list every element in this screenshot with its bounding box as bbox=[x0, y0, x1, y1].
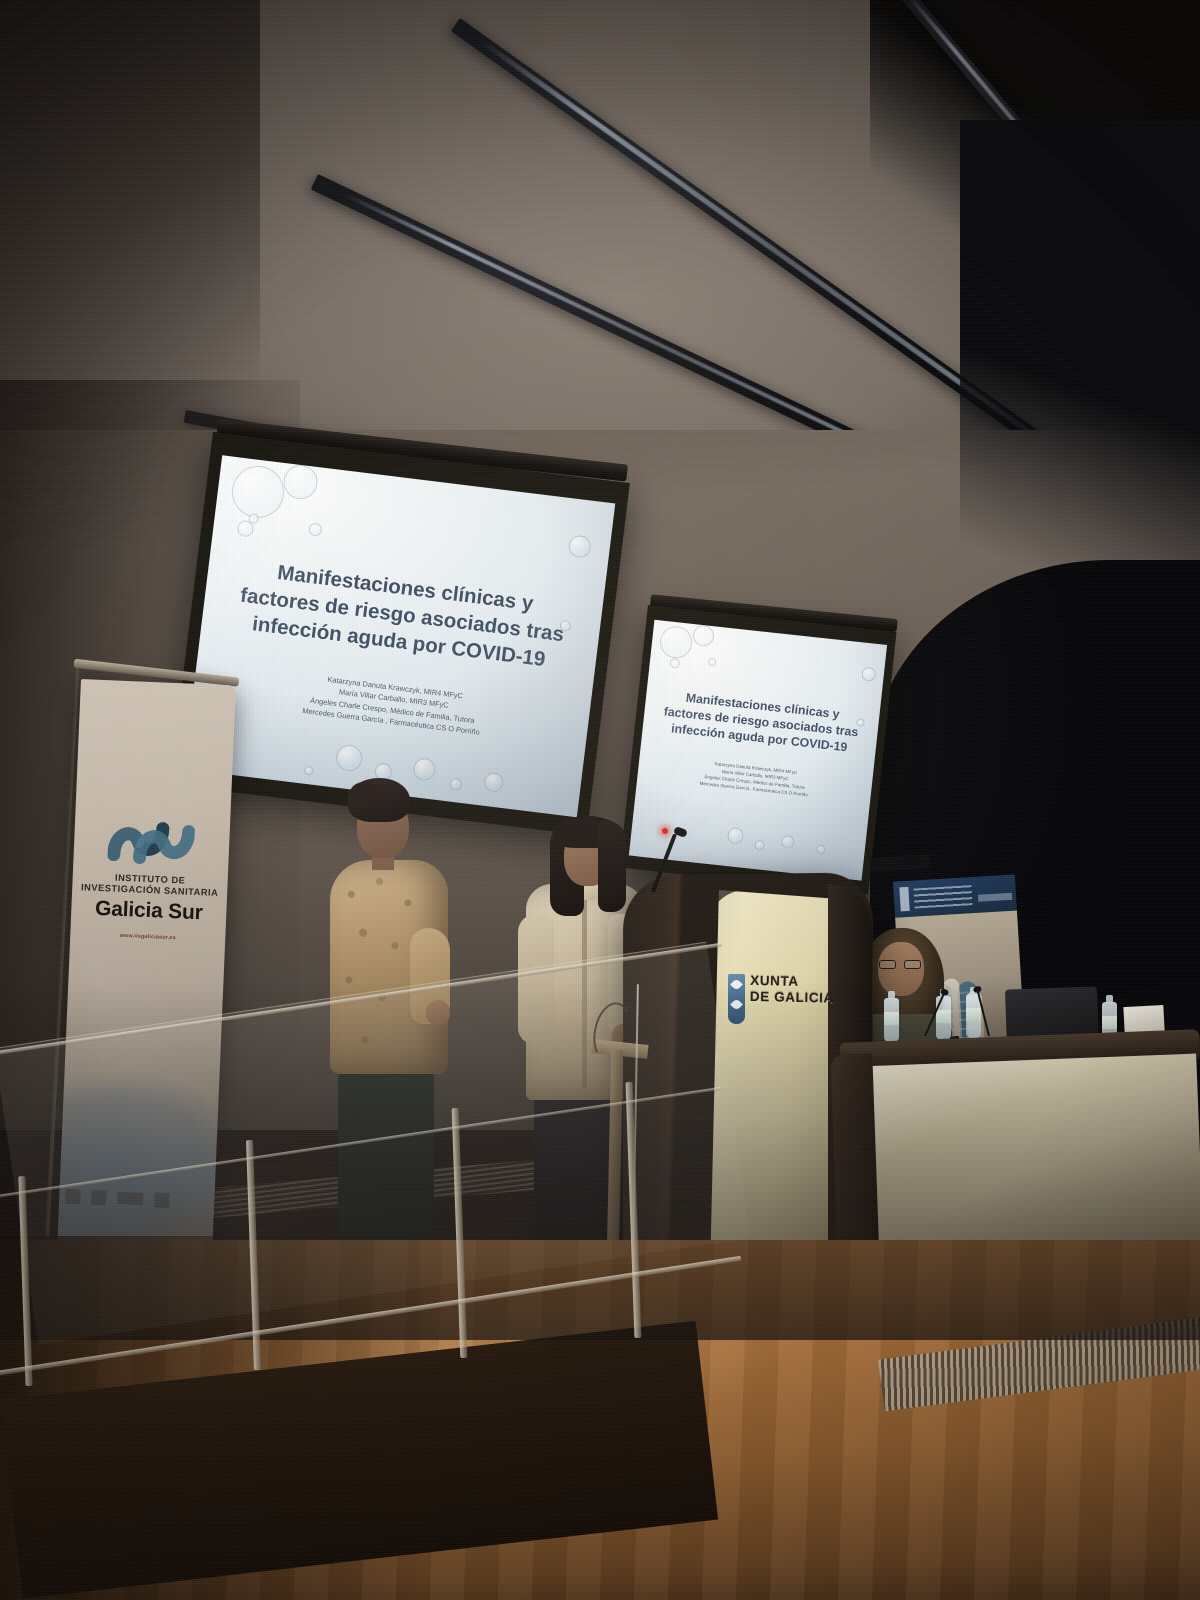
slide-bubble-icon bbox=[568, 534, 593, 559]
banner-main-title: Galicia Sur bbox=[71, 896, 227, 926]
banner-header-text-block bbox=[913, 885, 972, 908]
projection-screen-secondary: Manifestaciones clínicas y factores de r… bbox=[619, 605, 896, 898]
slide-bubble-icon bbox=[816, 845, 826, 855]
slide-authors: Katarzyna Danuta Krawczyk, MIR4 MFyC Mar… bbox=[671, 757, 839, 803]
slide-authors: Katarzyna Danuta Krawczyk, MIR4 MFyC Mar… bbox=[231, 663, 554, 748]
helix-logo-icon bbox=[107, 812, 195, 872]
slide-bubble-icon bbox=[727, 827, 745, 845]
slide-bubble-icon bbox=[659, 625, 694, 660]
screen-projection-surface: Manifestaciones clínicas y factores de r… bbox=[184, 455, 616, 817]
slide-bubble-icon bbox=[229, 463, 287, 521]
slide-bubble-icon bbox=[781, 835, 795, 849]
slide-title: Manifestaciones clínicas y factores de r… bbox=[654, 687, 868, 758]
conference-photo-scene: Manifestaciones clínicas y factores de r… bbox=[0, 0, 1200, 1600]
slide-bubble-icon bbox=[308, 522, 322, 536]
banner-logo-mark-icon bbox=[899, 887, 909, 911]
slide-bubble-icon bbox=[335, 744, 364, 773]
hair-bun bbox=[350, 782, 378, 804]
slide-bubble-icon bbox=[692, 624, 715, 647]
slide-bubble-icon bbox=[669, 658, 680, 669]
screen-projection-surface: Manifestaciones clínicas y factores de r… bbox=[629, 620, 887, 881]
banner-header-text-right bbox=[978, 893, 1012, 902]
eyeglasses-icon bbox=[878, 960, 924, 969]
slide-bubble-icon bbox=[282, 463, 320, 501]
banner-url: www.iisgaliciasur.es bbox=[70, 931, 225, 943]
slide-bubble-icon bbox=[483, 772, 504, 793]
slide-bubble-icon bbox=[304, 766, 314, 776]
slide-bubble-icon bbox=[708, 658, 717, 667]
microphone-active-led bbox=[662, 828, 668, 834]
slide-bubble-icon bbox=[754, 840, 765, 851]
slide-title: Manifestaciones clínicas y factores de r… bbox=[219, 553, 586, 677]
slide-bubble-icon bbox=[861, 667, 876, 682]
